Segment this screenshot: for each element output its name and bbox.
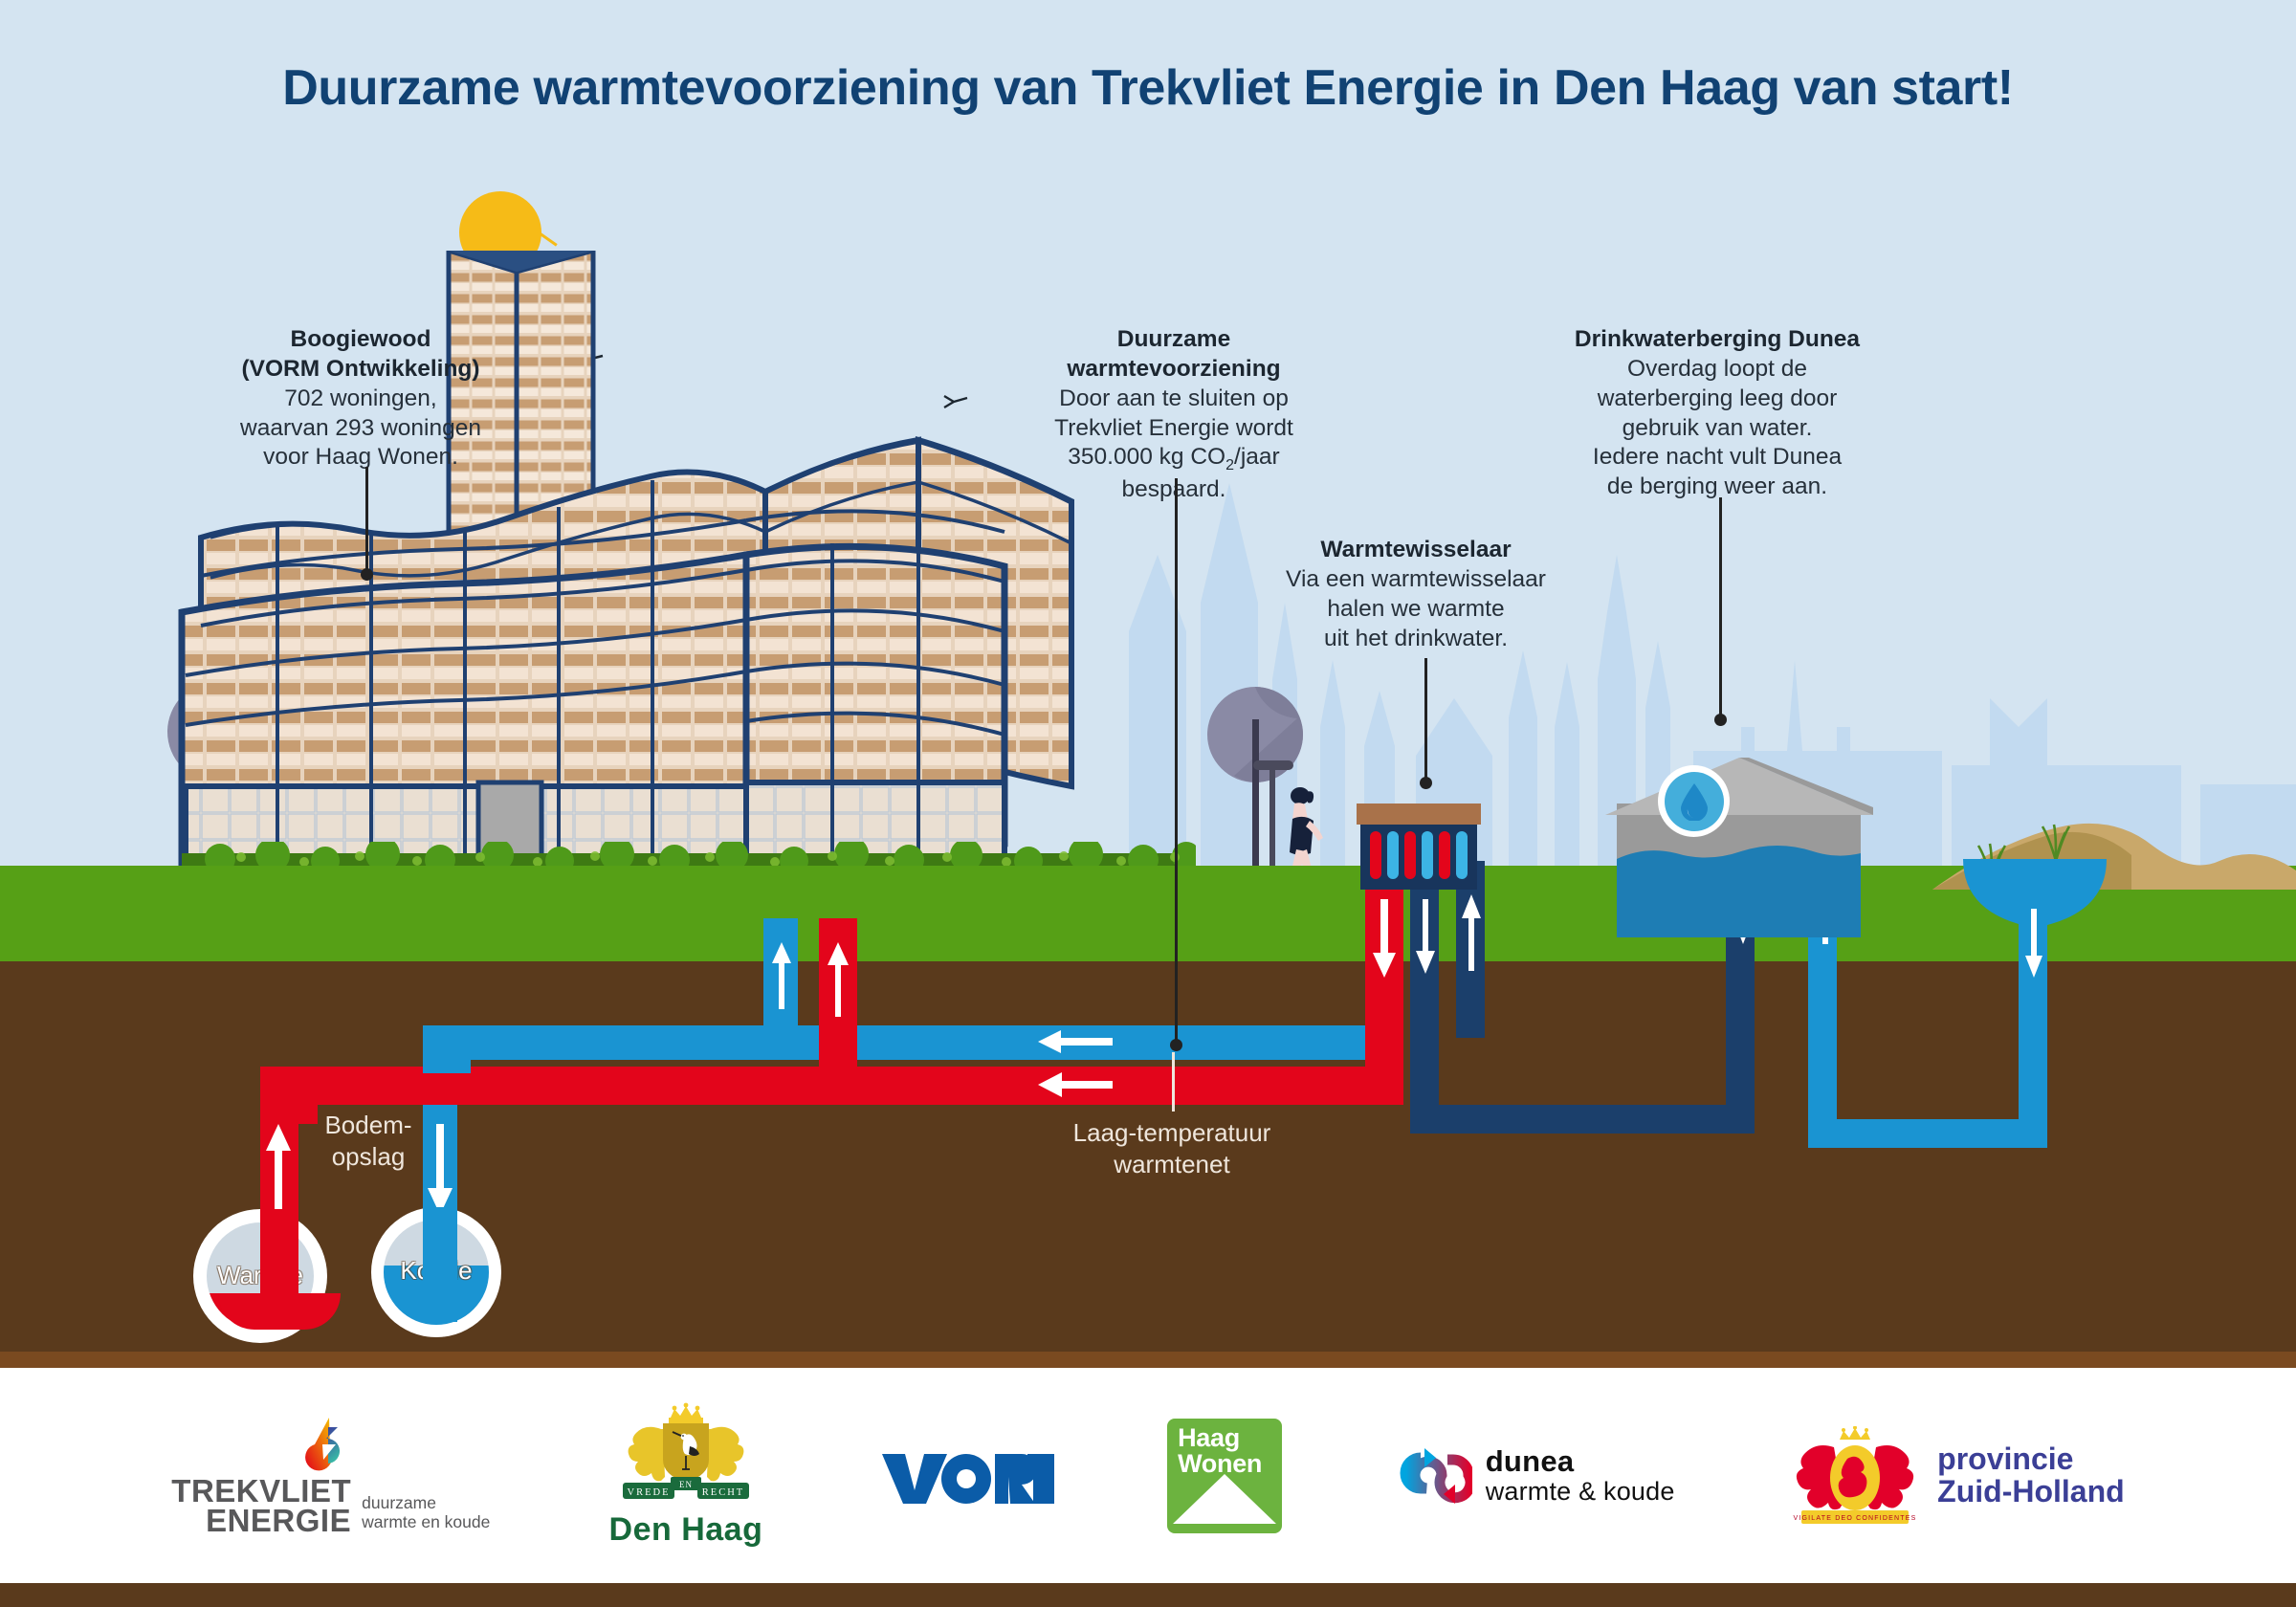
page-title: Duurzame warmtevoorziening van Trekvliet…	[0, 59, 2296, 117]
heat-exchanger-roof	[1357, 803, 1481, 825]
leader-line-duurzame	[1175, 478, 1178, 1043]
callout-dunea-body3: gebruik van water.	[1545, 414, 1889, 444]
hot-pipe-to-exchanger	[1365, 861, 1403, 1105]
callout-duurzame-title1: Duurzame	[1117, 326, 1230, 352]
arrow-left-icon	[1038, 1027, 1113, 1056]
hx-tube-hot	[1370, 831, 1381, 879]
pzh-motto: VIGILATE DEO CONFIDENTES	[1794, 1515, 1917, 1522]
den-haag-coat-of-arms-icon: EN VREDE RECHT	[604, 1402, 768, 1508]
callout-warmtewisselaar: Warmtewisselaar Via een warmtewisselaar …	[1272, 536, 1559, 653]
hx-tube-hot	[1439, 831, 1450, 879]
logo-den-haag[interactable]: EN VREDE RECHT Den Haag	[604, 1402, 768, 1549]
svg-text:EN: EN	[679, 1480, 693, 1489]
lamp-head	[1253, 760, 1293, 770]
cold-pipe-into-storage	[423, 1207, 457, 1322]
hx-tube-hot	[1404, 831, 1416, 879]
label-bodemopslag: Bodem- opslag	[277, 1110, 459, 1172]
infographic-canvas: Warmte Koude Boogiewood (VORM Ontwikkeli…	[0, 0, 2296, 1607]
callout-boogiewood-title1: Boogiewood	[291, 326, 431, 352]
hx-tube-cold	[1422, 831, 1433, 879]
hx-tube-cold	[1456, 831, 1468, 879]
vorm-wordmark-icon	[882, 1448, 1054, 1504]
callout-wissel-title: Warmtewisselaar	[1320, 537, 1511, 562]
callout-boogiewood-title2: (VORM Ontwikkeling)	[241, 356, 479, 382]
dunea-name: dunea	[1486, 1446, 1675, 1476]
callout-duurzame-title2: warmtevoorziening	[1067, 356, 1280, 382]
drinkwater-tank-roof	[1605, 758, 1873, 815]
svg-text:RECHT: RECHT	[702, 1487, 744, 1498]
pzh-line2: Zuid-Holland	[1937, 1476, 2125, 1508]
callout-duurzame-body2: Trekvliet Energie wordt	[1016, 414, 1332, 444]
warmtenet-line2: warmtenet	[1014, 1149, 1330, 1180]
callout-dunea-body2: waterberging leeg door	[1545, 385, 1889, 414]
water-drop-icon	[1679, 782, 1710, 821]
co2-subscript: 2	[1225, 457, 1234, 473]
arrow-down-icon	[2024, 909, 2043, 978]
tank-basin-pipe-h	[1808, 1119, 2028, 1148]
tree-trunk	[1252, 719, 1259, 874]
tank-water-level	[1617, 842, 1861, 937]
trekvliet-line2: ENERGIE	[206, 1507, 351, 1535]
partner-logo-row: TREKVLIET ENERGIE duurzame warmte en kou…	[0, 1368, 2296, 1583]
callout-dunea-body4: Iedere nacht vult Dunea	[1545, 443, 1889, 473]
logo-haag-wonen[interactable]: Haag Wonen	[1167, 1419, 1282, 1533]
bodemopslag-line1: Bodem-	[277, 1110, 459, 1141]
callout-wissel-body2: halen we warmte	[1272, 595, 1559, 625]
logo-provincie-zuid-holland[interactable]: VIGILATE DEO CONFIDENTES provincie Zuid-…	[1788, 1426, 2125, 1526]
callout-duurzame-body4: bespaard.	[1016, 475, 1332, 505]
callout-duurzame: Duurzame warmtevoorziening Door aan te s…	[1016, 325, 1332, 505]
arrow-up-icon	[771, 942, 792, 1009]
den-haag-name: Den Haag	[609, 1511, 763, 1549]
bodemopslag-line2: opslag	[277, 1141, 459, 1173]
callout-boogiewood-body3: voor Haag Wonen.	[203, 443, 519, 473]
callout-dunea: Drinkwaterberging Dunea Overdag loopt de…	[1545, 325, 1889, 502]
callout-wissel-body3: uit het drinkwater.	[1272, 625, 1559, 654]
water-drop-badge	[1658, 765, 1730, 837]
hot-storage-bottom	[218, 1293, 341, 1330]
haagwonen-line1: Haag	[1178, 1425, 1262, 1451]
cold-pipe-main	[423, 1025, 1399, 1060]
label-warmtenet: Laag-temperatuur warmtenet	[1014, 1117, 1330, 1179]
logo-vorm[interactable]	[882, 1448, 1054, 1504]
dunea-sub: warmte & koude	[1486, 1479, 1675, 1505]
logo-trekvliet-energie[interactable]: TREKVLIET ENERGIE duurzame warmte en kou…	[171, 1416, 490, 1535]
callout-duurzame-body3: 350.000 kg CO2/jaar	[1016, 443, 1332, 475]
drinkwater-pipe-horizontal	[1410, 1105, 1755, 1134]
warmtenet-line1: Laag-temperatuur	[1014, 1117, 1330, 1149]
dunea-arrows-icon	[1396, 1446, 1472, 1506]
leader-dot-boogiewood	[361, 568, 373, 581]
trekvliet-sub1: duurzame	[362, 1493, 490, 1513]
leader-dot-duurzame	[1170, 1039, 1182, 1051]
arrow-up-icon	[827, 942, 850, 1017]
leader-line-dunea	[1719, 497, 1722, 717]
haagwonen-roof-icon	[1167, 1472, 1282, 1528]
arrow-down-icon	[1415, 899, 1436, 974]
co2-pre: 350.000 kg CO	[1068, 444, 1225, 470]
bottom-soil-strip	[0, 1583, 2296, 1607]
pzh-coat-of-arms-icon: VIGILATE DEO CONFIDENTES	[1788, 1426, 1922, 1526]
leader-dot-warmtewisselaar	[1420, 777, 1432, 789]
callout-wissel-body1: Via een warmtewisselaar	[1272, 565, 1559, 595]
callout-boogiewood-body1: 702 woningen,	[203, 385, 519, 414]
leader-line-warmtewisselaar	[1424, 658, 1427, 781]
callout-dunea-body5: de berging weer aan.	[1545, 473, 1889, 502]
callout-dunea-body1: Overdag loopt de	[1545, 355, 1889, 385]
leader-dot-dunea	[1714, 714, 1727, 726]
arrow-up-icon	[1461, 894, 1482, 971]
trekvliet-line1: TREKVLIET	[171, 1477, 351, 1506]
pzh-line1: provincie	[1937, 1443, 2125, 1476]
leader-line-warmtenet	[1172, 1052, 1175, 1112]
dune-grass-icon	[2036, 819, 2076, 861]
callout-boogiewood: Boogiewood (VORM Ontwikkeling) 702 wonin…	[203, 325, 519, 473]
callout-dunea-title: Drinkwaterberging Dunea	[1575, 326, 1860, 352]
soil-bottom-band	[0, 1352, 2296, 1368]
hx-tube-cold	[1387, 831, 1399, 879]
co2-post: /jaar	[1234, 444, 1280, 470]
callout-boogiewood-body2: waarvan 293 woningen	[203, 414, 519, 444]
pipe-elbow	[423, 1025, 471, 1073]
callout-duurzame-body1: Door aan te sluiten op	[1016, 385, 1332, 414]
arrow-left-icon	[1038, 1069, 1113, 1100]
arrow-down-icon	[1372, 899, 1397, 978]
trekvliet-sub2: warmte en koude	[362, 1512, 490, 1532]
svg-text:VREDE: VREDE	[627, 1487, 670, 1498]
leader-line-boogiewood	[365, 467, 368, 572]
logo-dunea[interactable]: dunea warmte & koude	[1396, 1446, 1675, 1506]
